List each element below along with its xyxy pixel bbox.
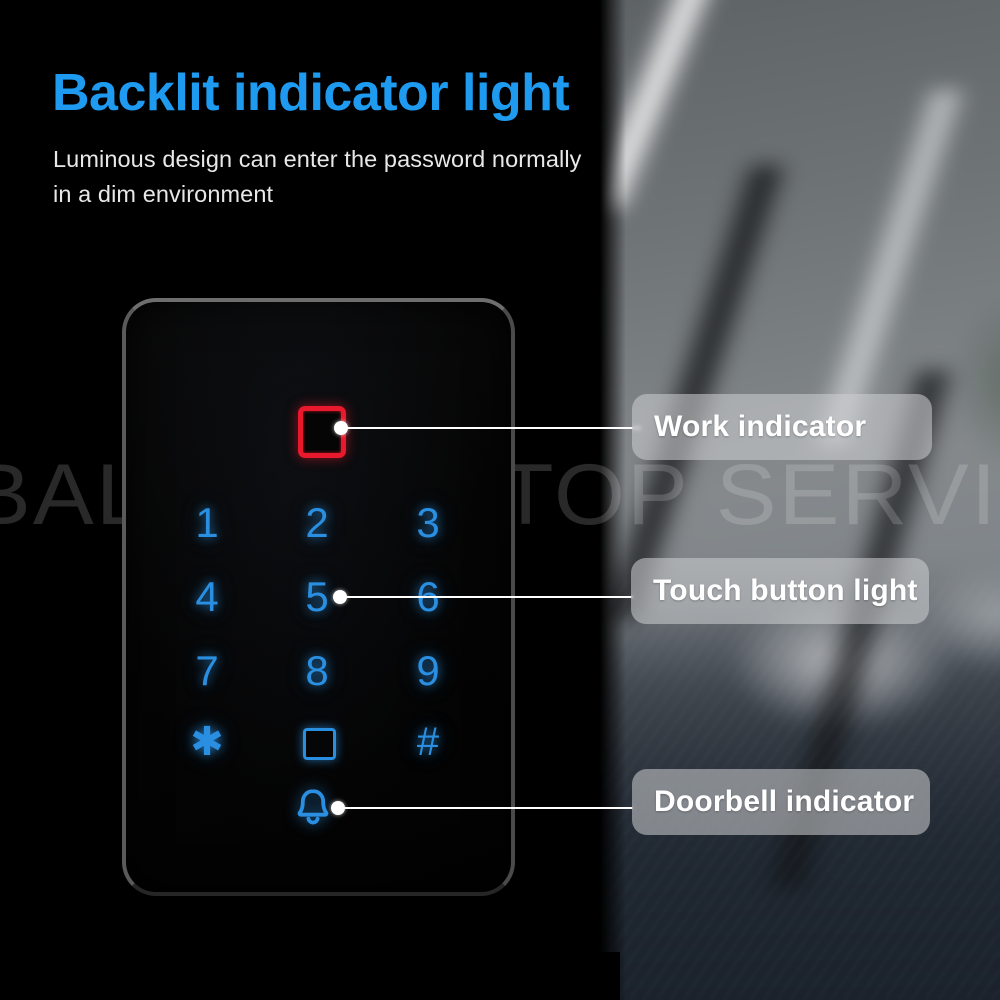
square-key-icon[interactable]: [303, 728, 336, 760]
callout-line-work-indicator: [341, 427, 641, 429]
keypad-key-7[interactable]: 7: [175, 643, 239, 699]
office-background-photo: [600, 0, 1000, 1000]
keypad-key-hash[interactable]: #: [396, 714, 460, 770]
doorbell-bell-icon[interactable]: [290, 785, 336, 831]
keypad-key-2[interactable]: 2: [285, 495, 349, 551]
callout-work-indicator[interactable]: Work indicator: [632, 394, 932, 460]
callout-line-doorbell-indicator: [338, 807, 633, 809]
keypad-key-4[interactable]: 4: [175, 569, 239, 625]
callout-label-work-indicator: Work indicator: [654, 410, 866, 444]
product-feature-image: BALI ONE STOP SERVICE Backlit indicator …: [0, 0, 1000, 1000]
keypad-key-3[interactable]: 3: [396, 495, 460, 551]
callout-label-touch-button-light: Touch button light: [653, 574, 918, 608]
keypad-key-star[interactable]: ✱: [175, 714, 239, 770]
keypad-key-1[interactable]: 1: [175, 495, 239, 551]
callout-touch-button-light[interactable]: Touch button light: [631, 558, 929, 624]
callout-doorbell-indicator[interactable]: Doorbell indicator: [632, 769, 930, 835]
callout-line-touch-button-light: [340, 596, 633, 598]
photo-edge-fade: [600, 0, 626, 1000]
callout-label-doorbell-indicator: Doorbell indicator: [654, 785, 914, 819]
page-title: Backlit indicator light: [52, 63, 569, 123]
photo-blur-layer: [600, 0, 1000, 1000]
keypad-key-9[interactable]: 9: [396, 643, 460, 699]
keypad-key-8[interactable]: 8: [285, 643, 349, 699]
photo-bottom-notch: [600, 952, 620, 1000]
page-subtitle: Luminous design can enter the password n…: [53, 142, 593, 212]
